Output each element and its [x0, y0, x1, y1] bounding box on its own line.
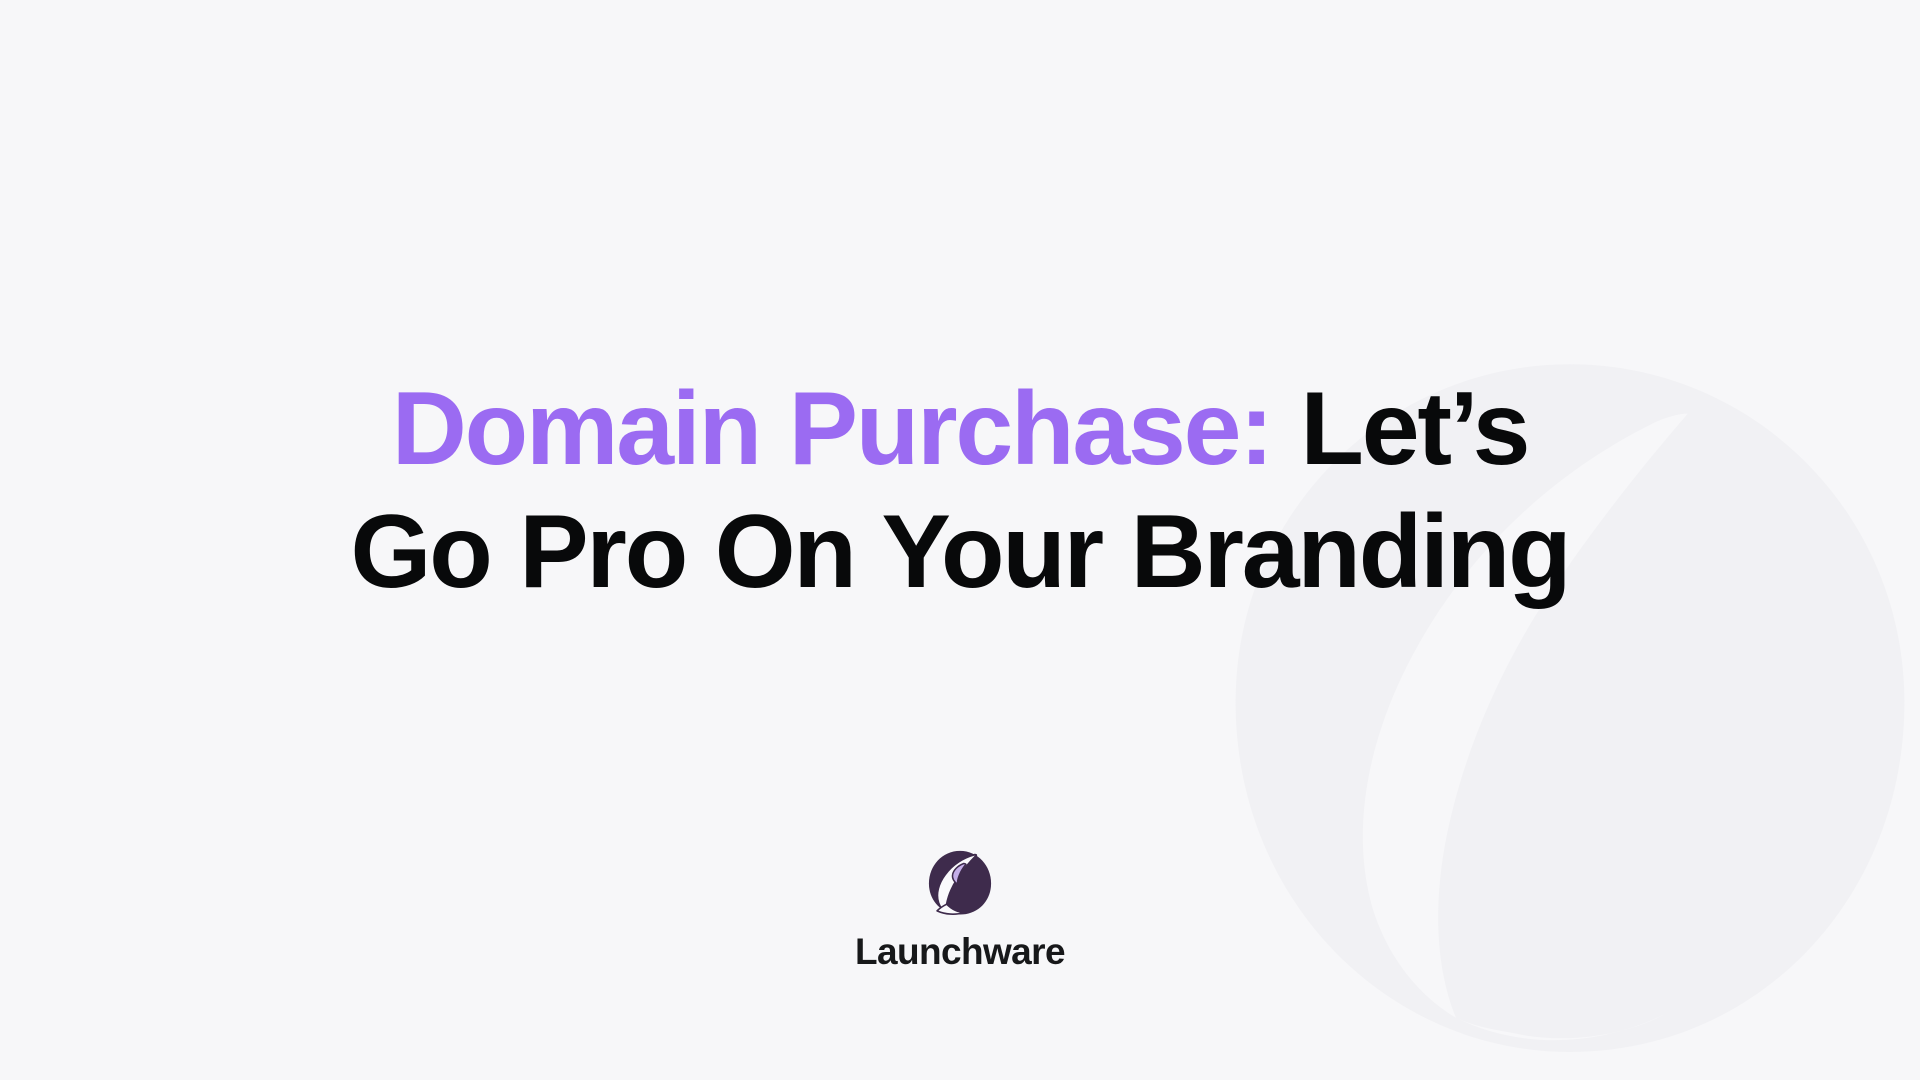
- headline-plain-line1: Let’s: [1272, 371, 1529, 487]
- headline-block: Domain Purchase: Let’sGo Pro On Your Bra…: [180, 368, 1740, 613]
- brand-lockup: Launchware: [0, 845, 1920, 970]
- brand-name: Launchware: [855, 933, 1065, 970]
- presentation-slide: Domain Purchase: Let’sGo Pro On Your Bra…: [0, 0, 1920, 1080]
- headline-accent: Domain Purchase:: [392, 371, 1272, 487]
- launchware-rocket-logo-icon: [923, 845, 997, 919]
- headline-line2: Go Pro On Your Branding: [351, 494, 1570, 610]
- page-title: Domain Purchase: Let’sGo Pro On Your Bra…: [180, 368, 1740, 613]
